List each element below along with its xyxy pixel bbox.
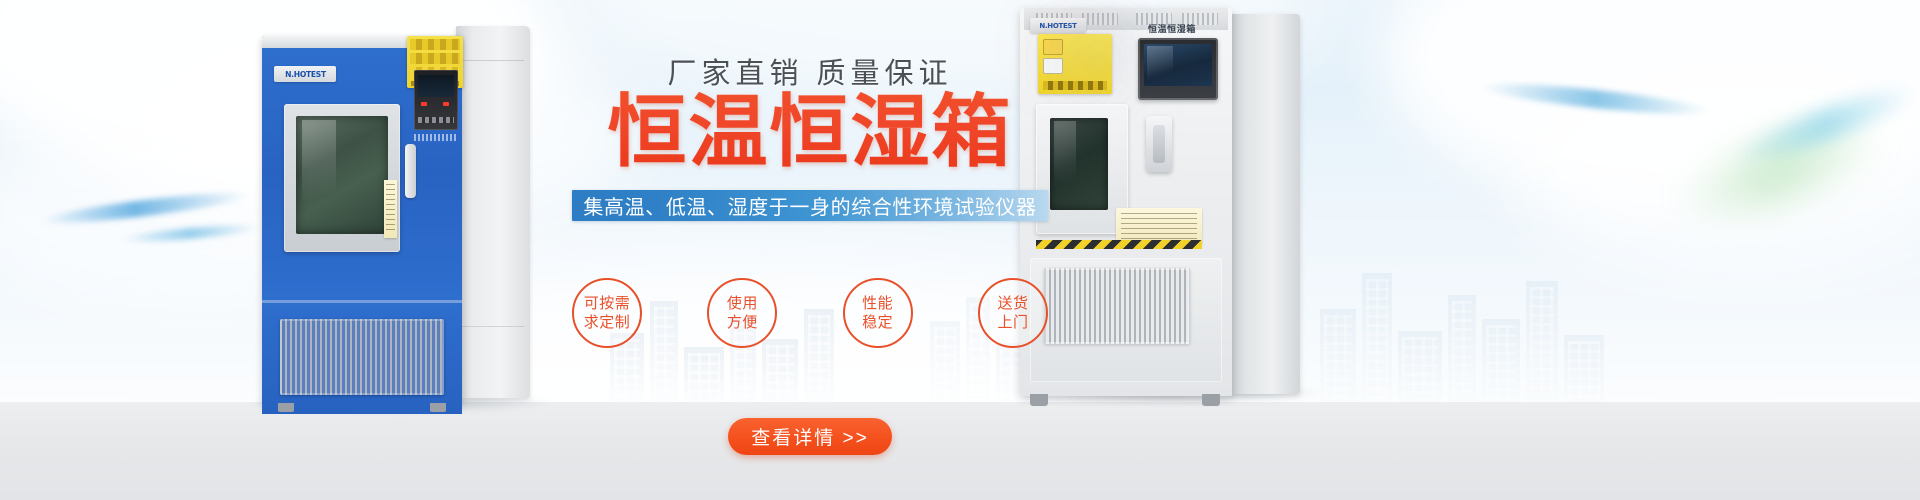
left-chamber-brand-plate: N.HOTEST	[274, 66, 336, 82]
feature-badge-stable[interactable]: 性能 稳定	[843, 278, 913, 348]
badge-line-1: 送货	[997, 294, 1028, 313]
green-swoosh	[1676, 111, 1885, 230]
left-chamber-door	[284, 104, 400, 252]
right-chamber-side-panel	[1228, 14, 1300, 394]
badge-line-2: 求定制	[584, 313, 631, 332]
right-chamber-product: N.HOTEST 恒温恒湿箱	[1020, 8, 1300, 396]
cloud-wash	[1520, 60, 1920, 280]
right-chamber-door-handle	[1146, 116, 1172, 172]
left-chamber-side-panel	[456, 26, 530, 398]
right-chamber-hazard-stripe	[1036, 240, 1202, 249]
feature-badge-custom[interactable]: 可按需 求定制	[572, 278, 642, 348]
left-chamber-door-handle	[405, 144, 416, 198]
badge-line-2: 上门	[997, 313, 1028, 332]
left-chamber-control-panel	[414, 70, 458, 130]
right-chamber-spec-sticker	[1116, 208, 1202, 244]
right-chamber-display-screen	[1144, 44, 1212, 86]
left-chamber-body: N.HOTEST	[262, 36, 462, 404]
feature-badge-group: 可按需 求定制 使用 方便 性能 稳定 送货 上门	[572, 277, 1048, 349]
blue-swoosh	[1480, 78, 1711, 120]
promo-banner: N.HOTEST	[0, 0, 1920, 500]
badge-line-1: 使用	[727, 294, 758, 313]
feature-badge-delivery[interactable]: 送货 上门	[978, 278, 1048, 348]
right-chamber-name-plate: 恒温恒湿箱	[1124, 22, 1220, 34]
left-chamber-lower-section	[262, 303, 462, 414]
left-chamber-brand-text: N.HOTEST	[285, 70, 326, 79]
blue-swoosh	[120, 222, 260, 245]
left-chamber-vent-grille	[280, 319, 444, 395]
left-chamber-feet	[262, 403, 462, 412]
banner-subtitle-text: 集高温、低温、湿度于一身的综合性环境试验仪器	[583, 191, 1036, 220]
right-chamber-control-screen	[1138, 38, 1218, 100]
left-chamber-upper-section: N.HOTEST	[262, 48, 462, 300]
left-chamber-display-screen	[418, 75, 454, 97]
badge-line-1: 可按需	[584, 294, 631, 313]
feature-badge-easy-use[interactable]: 使用 方便	[707, 278, 777, 348]
view-details-label: 查看详情 >>	[751, 423, 868, 450]
indicator-led	[421, 102, 427, 106]
left-chamber-panel-text	[414, 134, 458, 141]
blue-swoosh	[1731, 78, 1920, 171]
banner-copy-block: 厂家直销 质量保证 恒温恒湿箱 集高温、低温、湿度于一身的综合性环境试验仪器 可…	[560, 0, 1060, 500]
badge-line-2: 稳定	[862, 313, 893, 332]
left-chamber-side-sticker	[384, 180, 397, 238]
badge-line-2: 方便	[727, 313, 758, 332]
badge-line-1: 性能	[862, 294, 893, 313]
blue-swoosh	[40, 187, 250, 228]
banner-subtitle-bar: 集高温、低温、湿度于一身的综合性环境试验仪器	[572, 190, 1048, 221]
cloud-wash	[1380, 0, 1920, 210]
left-chamber-viewing-window	[296, 116, 388, 234]
left-chamber-product: N.HOTEST	[262, 26, 530, 404]
right-chamber-name-text: 恒温恒湿箱	[1148, 22, 1196, 35]
view-details-button[interactable]: 查看详情 >>	[728, 418, 892, 455]
city-skyline	[1320, 255, 1620, 405]
banner-headline: 恒温恒湿箱	[560, 86, 1060, 178]
indicator-led	[443, 102, 449, 106]
control-buttons	[418, 117, 454, 123]
right-chamber-vent-grille	[1044, 268, 1190, 344]
